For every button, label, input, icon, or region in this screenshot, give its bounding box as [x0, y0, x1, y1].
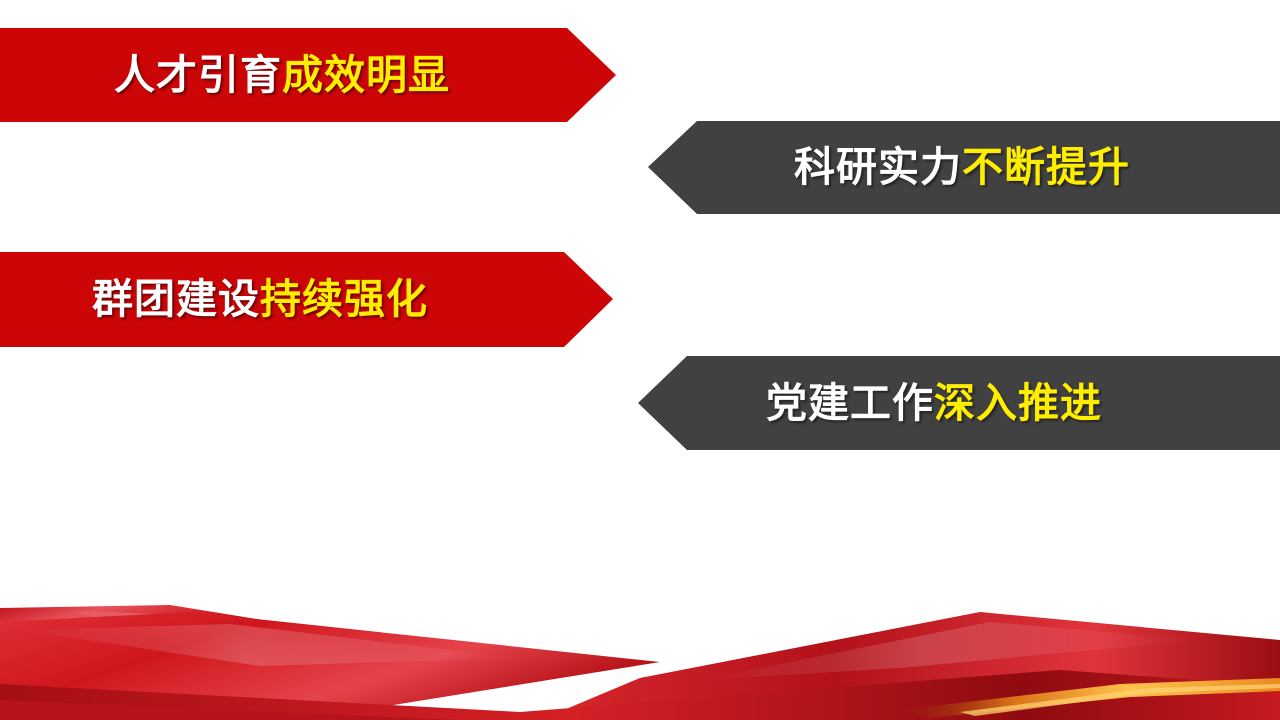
ribbon-gold-streak — [900, 678, 1280, 718]
ribbon-highlight-1 — [60, 610, 330, 630]
banner-text-mass-organization: 群团建设持续强化 — [92, 279, 428, 320]
banner-text-accent: 成效明显 — [282, 52, 450, 98]
arrow-banner-talent[interactable]: 人才引育成效明显 — [0, 28, 616, 122]
red-ribbon-decoration — [0, 560, 1280, 720]
banner-text-primary: 党建工作 — [766, 380, 934, 426]
ribbon-layer-2 — [0, 612, 660, 720]
banner-text-accent: 持续强化 — [260, 276, 428, 322]
ribbon-layer-3 — [540, 612, 1280, 720]
arrow-banner-mass-organization[interactable]: 群团建设持续强化 — [0, 252, 613, 347]
ribbon-highlight-2 — [20, 624, 520, 666]
banner-text-research: 科研实力不断提升 — [794, 147, 1130, 188]
banner-text-primary: 人才引育 — [114, 52, 282, 98]
banner-text-talent: 人才引育成效明显 — [114, 55, 450, 96]
ribbon-gold-core — [960, 684, 1280, 716]
arrow-banner-research[interactable]: 科研实力不断提升 — [648, 121, 1280, 214]
banner-text-accent: 不断提升 — [962, 144, 1130, 190]
arrow-banner-party-building[interactable]: 党建工作深入推进 — [638, 356, 1280, 450]
banner-text-primary: 科研实力 — [794, 144, 962, 190]
ribbon-layer-4 — [0, 670, 1280, 720]
ribbon-layer-1 — [0, 605, 410, 644]
banner-text-primary: 群团建设 — [92, 276, 260, 322]
banner-text-party-building: 党建工作深入推进 — [766, 383, 1102, 424]
banner-text-accent: 深入推进 — [934, 380, 1102, 426]
slide-canvas: 人才引育成效明显 科研实力不断提升 群团建设持续强化 党建工作深入推进 — [0, 0, 1280, 720]
ribbon-highlight-3 — [700, 622, 1200, 680]
ribbon-layer-5 — [0, 700, 460, 720]
